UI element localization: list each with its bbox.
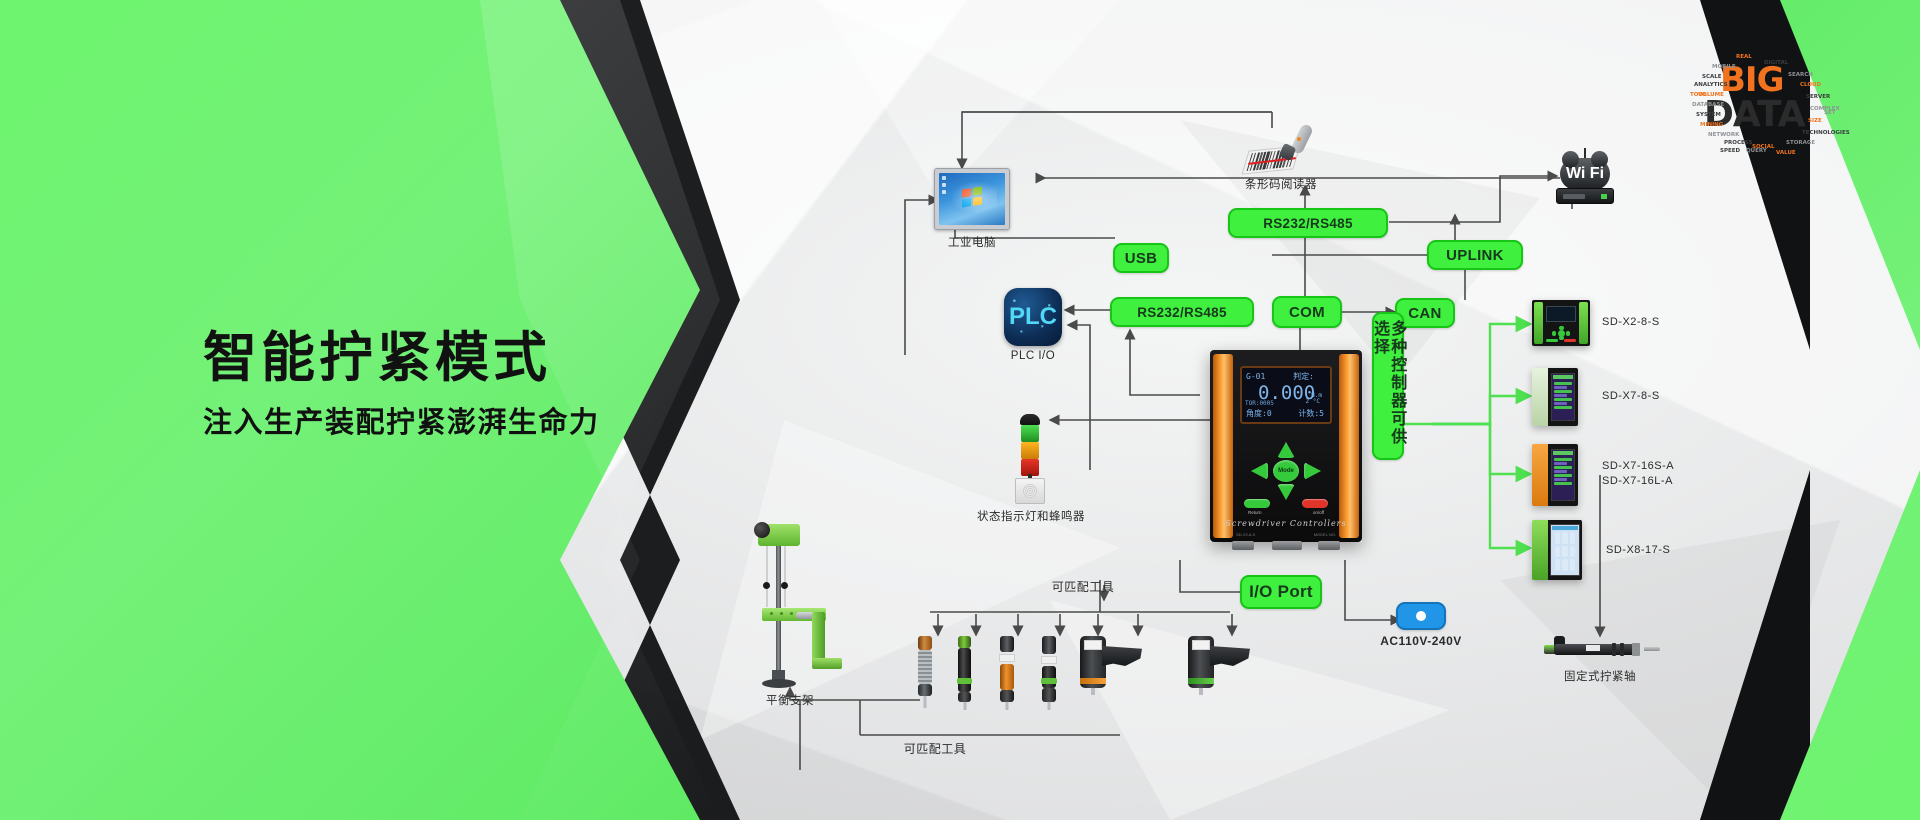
controller-subtext: SD-X2-8-S MODEL NO. xyxy=(1210,532,1362,537)
model-label-x7-16l: SD-X7-16L-A xyxy=(1602,475,1673,487)
badge-rs232-top[interactable]: RS232/RS485 xyxy=(1228,208,1388,238)
controller-model-x8-node[interactable]: SD-X8-17-S xyxy=(1532,520,1582,580)
big-data-node: BIG DATA ANALYTICS VOLUME DATABASE SYSTE… xyxy=(1690,48,1840,158)
return-button-label: Return xyxy=(1248,510,1262,515)
controller-display: G-01 判定: 0.000 N.m TOR:0005 2 °C 角度:0 计数… xyxy=(1240,366,1332,424)
balancer-node[interactable]: 平衡支架 xyxy=(740,520,850,688)
onoff-button[interactable] xyxy=(1302,499,1328,508)
model-label-x7-16s: SD-X7-16S-A xyxy=(1602,460,1674,472)
badge-usb[interactable]: USB xyxy=(1113,243,1169,273)
display-angle: 角度:0 xyxy=(1246,408,1272,419)
controller-model-x7-8-node[interactable]: SD-X7-8-S xyxy=(1532,368,1578,426)
badge-uplink[interactable]: UPLINK xyxy=(1427,240,1523,270)
industrial-pc-label: 工业电脑 xyxy=(922,234,1022,250)
display-torque-id: TOR:0005 xyxy=(1245,400,1274,407)
display-count: 计数:5 xyxy=(1298,408,1324,419)
main-controller-node[interactable]: G-01 判定: 0.000 N.m TOR:0005 2 °C 角度:0 计数… xyxy=(1210,350,1362,542)
controller-model-right: MODEL NO. xyxy=(1314,532,1336,537)
power-badge[interactable] xyxy=(1396,602,1446,630)
headline-block: 智能拧紧模式 注入生产装配拧紧澎湃生命力 xyxy=(203,330,600,441)
plc-icon: PLC xyxy=(1004,288,1062,346)
barcode-reader-label: 条形码阅读器 xyxy=(1225,176,1337,192)
power-node[interactable]: AC110V-240V xyxy=(1396,602,1446,630)
sd-x2-unit-icon xyxy=(1532,300,1590,346)
balancer-label: 平衡支架 xyxy=(726,692,854,708)
wifi-icon: Wi Fi xyxy=(1556,148,1616,206)
controller-model-x7-16-node[interactable]: SD-X7-16S-A SD-X7-16L-A xyxy=(1532,444,1578,506)
fixed-spindle-icon xyxy=(1540,636,1660,662)
badge-controller-selector[interactable]: 多种控制器可供选择 xyxy=(1372,312,1404,460)
page-title: 智能拧紧模式 xyxy=(203,330,600,387)
plc-label: PLC I/O xyxy=(994,350,1072,362)
badge-io-port[interactable]: I/O Port xyxy=(1240,575,1322,609)
sd-x8-17-unit-icon xyxy=(1532,520,1582,580)
dpad-down-button[interactable] xyxy=(1277,484,1295,500)
sd-x7-8-unit-icon xyxy=(1532,368,1578,426)
controller-model-left: SD-X2-8-S xyxy=(1236,532,1255,537)
display-judge-label: 判定: xyxy=(1293,371,1314,382)
sd-x7-16-unit-icon xyxy=(1532,444,1578,506)
balance-arm-icon xyxy=(740,520,850,688)
mode-button[interactable]: Mode xyxy=(1273,460,1299,482)
industrial-pc-node[interactable]: 工业电脑 xyxy=(934,168,1010,230)
dpad-right-button[interactable] xyxy=(1304,462,1321,480)
dpad-up-button[interactable] xyxy=(1277,442,1295,458)
controller-model-x2-node[interactable]: SD-X2-8-S xyxy=(1532,300,1590,346)
display-program: G-01 xyxy=(1246,372,1265,381)
screwdriver-controller-icon: G-01 判定: 0.000 N.m TOR:0005 2 °C 角度:0 计数… xyxy=(1210,350,1362,542)
pistol-screwdriver-icon xyxy=(1080,636,1142,690)
controller-brand-text: Screwdriver Controllers xyxy=(1210,519,1362,528)
big-data-cloud-icon: BIG DATA ANALYTICS VOLUME DATABASE SYSTE… xyxy=(1690,48,1840,158)
model-label-x8: SD-X8-17-S xyxy=(1606,544,1670,556)
monitor-icon xyxy=(934,168,1010,230)
controller-dpad[interactable]: Mode xyxy=(1251,442,1321,500)
plc-badge-text: PLC xyxy=(1004,288,1062,346)
display-temp: 2 °C xyxy=(1306,398,1320,405)
power-label: AC110V-240V xyxy=(1373,634,1469,648)
tools-top-label: 可匹配工具 xyxy=(1028,578,1138,595)
pistol-screwdriver-icon xyxy=(1188,636,1250,690)
tower-light-icon xyxy=(1013,414,1047,504)
plc-node[interactable]: PLC PLC I/O xyxy=(1004,288,1062,346)
dpad-left-button[interactable] xyxy=(1251,462,1268,480)
power-dot-icon xyxy=(1416,611,1426,621)
wifi-label: Wi Fi xyxy=(1556,165,1614,183)
badge-rs232-left[interactable]: RS232/RS485 xyxy=(1110,297,1254,327)
fixed-spindle-node[interactable]: 固定式拧紧轴 xyxy=(1540,636,1660,662)
status-light-node[interactable]: 状态指示灯和蜂鸣器 xyxy=(1013,414,1047,504)
return-button[interactable] xyxy=(1244,499,1270,508)
controller-ports xyxy=(1210,540,1362,550)
wifi-node[interactable]: Wi Fi xyxy=(1556,148,1616,206)
tools-bottom-label: 可匹配工具 xyxy=(880,740,990,757)
badge-com[interactable]: COM xyxy=(1272,296,1342,328)
windows-logo-icon xyxy=(962,186,982,207)
model-label-x2: SD-X2-8-S xyxy=(1602,316,1660,328)
fixed-spindle-label: 固定式拧紧轴 xyxy=(1536,668,1664,684)
status-light-label: 状态指示灯和蜂鸣器 xyxy=(951,508,1111,524)
banner-stage: 智能拧紧模式 注入生产装配拧紧澎湃生命力 xyxy=(0,0,1920,820)
onoff-button-label: on/off xyxy=(1313,510,1324,515)
barcode-reader-node[interactable]: 条形码阅读器 xyxy=(1246,126,1312,172)
barcode-scanner-icon xyxy=(1246,126,1312,172)
page-subtitle: 注入生产装配拧紧澎湃生命力 xyxy=(203,399,600,441)
model-label-x7-8: SD-X7-8-S xyxy=(1602,390,1660,402)
